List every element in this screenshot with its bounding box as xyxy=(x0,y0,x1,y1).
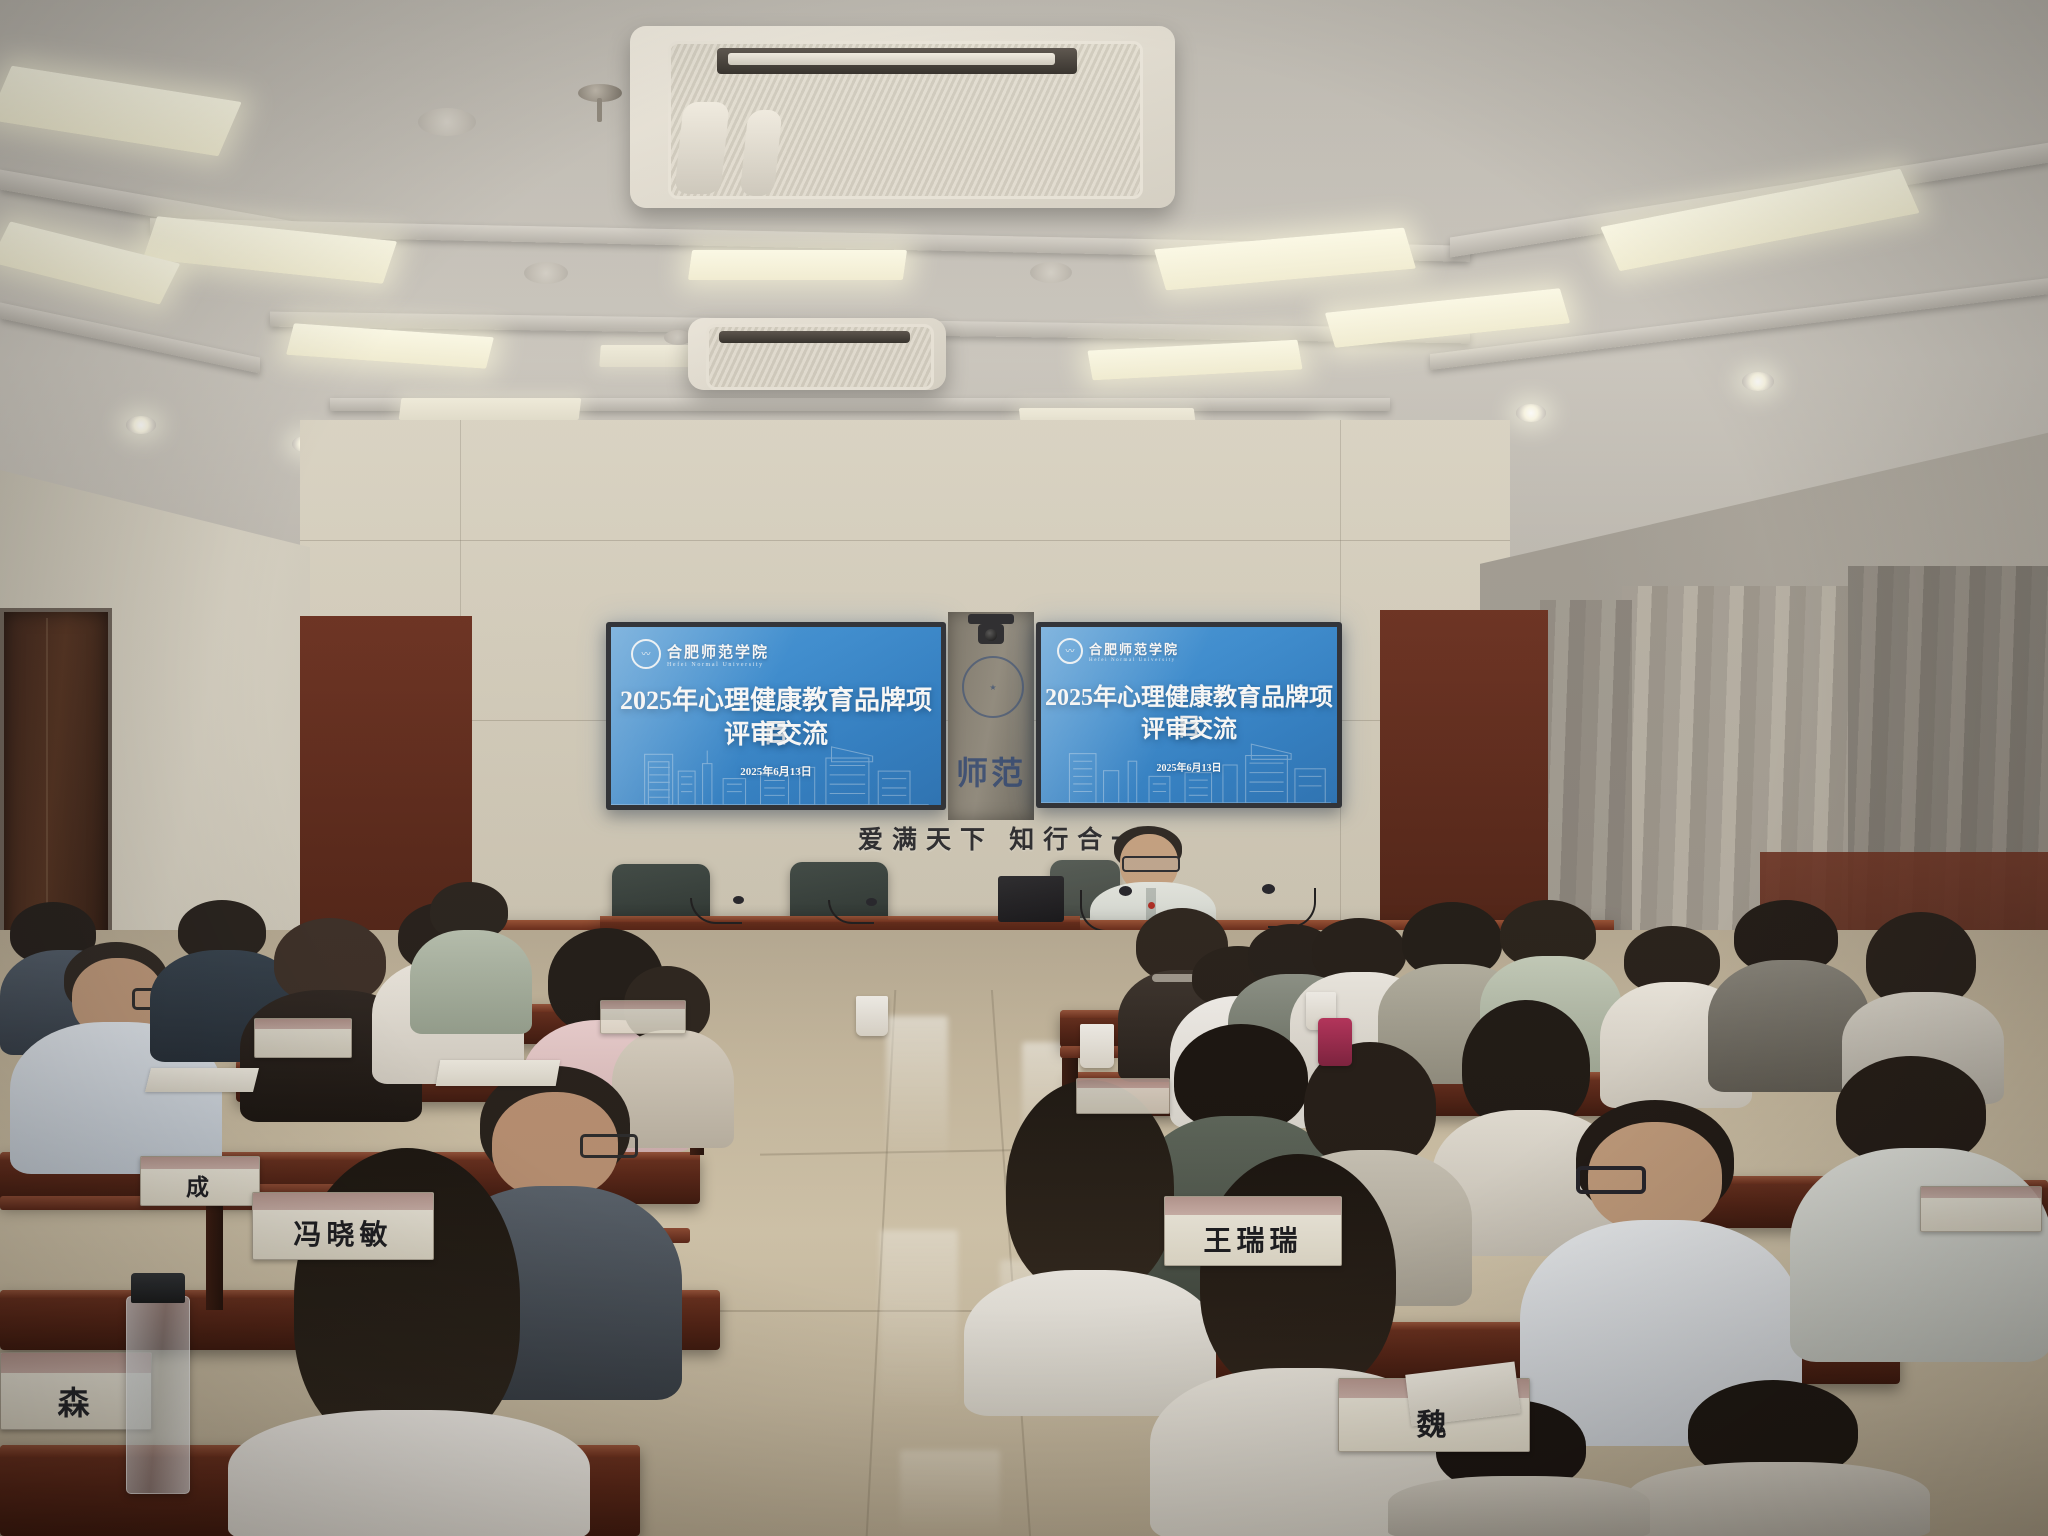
center-column: ★ 师范 xyxy=(948,612,1034,820)
audience-member xyxy=(410,882,530,1032)
placard-name: 冯晓敏 xyxy=(293,1222,392,1259)
document-paper xyxy=(436,1060,561,1086)
slide-title-line1: 2025年心理健康教育品牌项目 xyxy=(611,685,941,751)
presenter-laptop[interactable] xyxy=(998,876,1064,922)
downlight xyxy=(126,416,156,434)
downlight xyxy=(1742,372,1774,391)
audience-member xyxy=(1628,1380,1928,1536)
gooseneck-microphone xyxy=(1262,884,1275,894)
slide-org-name-en: Hefei Normal University xyxy=(667,662,769,668)
wall-camera xyxy=(968,614,1014,624)
slide-logo: 〰 合肥师范学院 Hefei Normal University xyxy=(1057,638,1179,664)
thermos-bottle[interactable] xyxy=(1318,1018,1352,1066)
slide-skyline-graphic xyxy=(611,730,929,805)
ceiling-panel-light xyxy=(1087,340,1302,381)
name-placard xyxy=(1076,1078,1170,1114)
ceiling-panel-light xyxy=(1154,228,1416,291)
paper-cup[interactable] xyxy=(1080,1024,1114,1068)
document-paper xyxy=(145,1068,259,1092)
university-emblem-icon: 〰 xyxy=(1057,638,1083,664)
name-placard: 冯晓敏 xyxy=(252,1192,434,1260)
glasses-icon xyxy=(1122,856,1180,872)
name-placard xyxy=(254,1018,352,1058)
ceiling-panel-light xyxy=(399,398,582,420)
slide-org-name-en: Hefei Normal University xyxy=(1089,658,1179,663)
fire-sprinkler xyxy=(597,98,602,122)
glass-water-bottle[interactable] xyxy=(126,1296,190,1494)
placard-name: 成 xyxy=(186,1176,214,1205)
ceiling-panel-light xyxy=(1600,169,1919,272)
downlight xyxy=(524,262,568,284)
slide-title-line2: 评审交流 xyxy=(611,719,941,752)
column-text: 师范 xyxy=(948,748,1034,794)
ceiling-panel-light xyxy=(286,323,494,368)
university-emblem-icon: 〰 xyxy=(631,639,661,669)
slide-title-line2: 评审交流 xyxy=(1041,715,1337,745)
slide-skyline-graphic xyxy=(1041,729,1331,803)
university-emblem-icon: ★ xyxy=(962,656,1024,718)
paper-cup[interactable] xyxy=(856,996,888,1036)
name-placard xyxy=(1920,1186,2042,1232)
slide-date: 2025年6月13日 xyxy=(1041,759,1337,774)
glasses-icon xyxy=(580,1134,638,1158)
slide-date: 2025年6月13日 xyxy=(611,763,941,779)
downlight xyxy=(1516,404,1546,422)
ceiling-ac-cassette xyxy=(630,26,1175,208)
right-screen[interactable]: 〰 合肥师范学院 Hefei Normal University 2025年心理… xyxy=(1036,622,1342,808)
ceiling-ac-vent xyxy=(688,318,946,390)
slide-title-line1: 2025年心理健康教育品牌项目 xyxy=(1041,683,1337,743)
downlight xyxy=(1030,262,1072,283)
slide-org-name-cn: 合肥师范学院 xyxy=(667,641,769,662)
slide-org-name-cn: 合肥师范学院 xyxy=(1089,639,1179,658)
ceiling-panel-light xyxy=(688,250,907,280)
slide-logo: 〰 合肥师范学院 Hefei Normal University xyxy=(631,639,769,669)
downlight xyxy=(418,108,476,136)
name-placard: 成 xyxy=(140,1156,260,1206)
name-placard: 王瑞瑞 xyxy=(1164,1196,1342,1266)
ceiling-soffit xyxy=(0,302,260,373)
ceiling-panel-light xyxy=(0,66,242,157)
wall-camera xyxy=(978,624,1004,644)
glasses-icon xyxy=(1576,1166,1646,1194)
conference-room-photo: 〰 合肥师范学院 Hefei Normal University 2025年心理… xyxy=(0,0,2048,1536)
gooseneck-microphone xyxy=(1119,886,1132,896)
bench-leg xyxy=(206,1200,223,1310)
name-placard xyxy=(600,1000,686,1034)
left-screen[interactable]: 〰 合肥师范学院 Hefei Normal University 2025年心理… xyxy=(606,622,946,810)
placard-name: 魏 xyxy=(1417,1411,1452,1451)
gooseneck-microphone xyxy=(866,898,877,906)
placard-name: 王瑞瑞 xyxy=(1203,1228,1302,1265)
placard-name: 森 xyxy=(57,1387,94,1429)
gooseneck-microphone xyxy=(733,896,744,904)
